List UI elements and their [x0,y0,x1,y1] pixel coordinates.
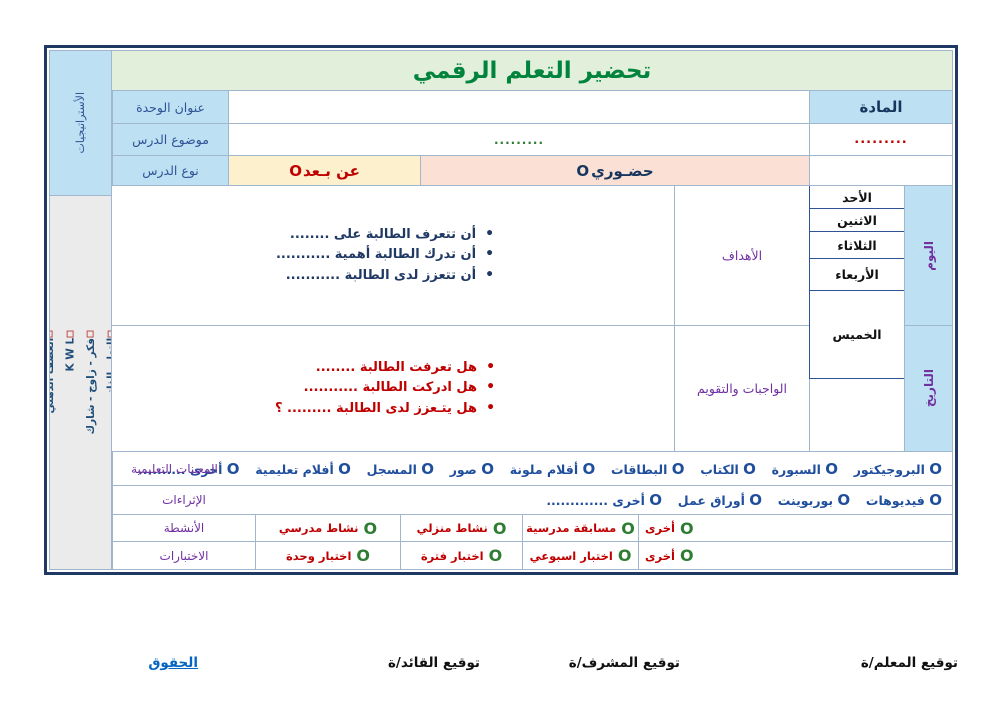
row-activities: O أخرى O مسابقة مدرسية O نشاط منزلي [112,515,952,542]
header-row-unit: المادة عنوان الوحدة [112,91,952,124]
remote-label: عن بـعد [303,162,360,180]
day-side-label: اليوم [904,186,952,326]
lesson-type-remote-option[interactable]: عن بـعد O [228,156,420,186]
resources-options[interactable]: O البروجيكتور O السبورة O الكتاب O ال [236,452,952,486]
option-label[interactable]: أقلام ملونة [510,462,578,477]
title-row: تحضير التعلم الرقمي [112,51,952,91]
lesson-type-label-cell: نوع الدرس [112,156,228,186]
enrichment-option-line: O فيديوهات O بوربوينت O أوراق عمل O أ [546,491,942,509]
option-label: اختبار فترة [421,549,484,563]
strategy-item[interactable]: فكر - زاوج - شارك [81,331,101,435]
checkbox-icon[interactable] [50,331,53,338]
activity-option-other[interactable]: O أخرى [638,515,952,541]
checkbox-icon[interactable] [66,331,73,338]
option-label: اختبار اسبوعي [530,549,613,563]
list-item: هل يتـعزز لدى الطالبة ......... ؟ [275,399,477,419]
date-value-cell[interactable] [809,379,904,452]
row-resources: O البروجيكتور O السبورة O الكتاب O ال [112,452,952,486]
supervisor-signature-label: توقيع المشرف/ة [569,655,680,671]
marker-icon[interactable]: O [649,491,662,509]
marker-icon[interactable]: O [481,460,494,478]
signature-footer: توقيع المعلم/ة توقيع المشرف/ة توقيع القا… [44,655,958,681]
option-label[interactable]: صور [450,462,477,477]
enrichment-options[interactable]: O فيديوهات O بوربوينت O أوراق عمل O أ [255,486,952,515]
lesson-topic-value-cell[interactable]: ......... [228,124,809,156]
enrichment-tail: ............. [546,493,608,508]
marker-icon[interactable]: O [837,491,850,509]
option-label[interactable]: فيديوهات [866,493,925,508]
page-title: تحضير التعلم الرقمي [413,58,651,84]
activity-option-school-contest[interactable]: O مسابقة مدرسية [522,515,638,541]
activity-option-home[interactable]: O نشاط منزلي [400,515,522,541]
option-label[interactable]: البطاقات [611,462,667,477]
marker-icon: O [356,546,370,565]
day-cell-wednesday[interactable]: الأربعاء [809,259,904,291]
marker-icon: O [680,546,694,565]
list-item: أن تتعرف الطالبة على ........ [276,225,476,245]
tests-cells: O أخرى O اختبار اسبوعي O اختبار فترة [255,542,952,569]
option-label[interactable]: أفلام تعليمية [255,462,334,477]
teacher-signature-label: توقيع المعلم/ة [861,655,958,671]
strategies-rotated-text: التعلم التعاوني المصورة خرائط المفاهيم ا… [50,331,112,435]
option-label: نشاط مدرسي [279,521,359,535]
onsite-marker-icon: O [576,162,591,180]
marker-icon[interactable]: O [421,460,434,478]
bottom-block: O البروجيكتور O السبورة O الكتاب O ال [112,452,952,569]
option-label: مسابقة مدرسية [526,521,616,535]
strategies-side-label-text: الأستراتيجيات [74,92,87,154]
resources-option-line: O البروجيكتور O السبورة O الكتاب O ال [138,460,942,478]
remote-marker-icon: O [289,162,303,180]
main-grid: تحضير التعلم الرقمي المادة عنوان الوحدة … [112,51,952,569]
body-block: اليوم التاريخ الأحد الاثنين الثلاثاء الأ… [112,186,952,452]
activities-cells: O أخرى O مسابقة مدرسية O نشاط منزلي [255,515,952,542]
marker-icon[interactable]: O [672,460,685,478]
checkbox-icon[interactable] [87,331,94,338]
option-label[interactable]: المسجل [367,462,417,477]
marker-icon: O [621,519,635,538]
goals-list: أن تتعرف الطالبة على ........ أن تدرك ال… [276,225,510,285]
marker-icon: O [364,519,378,538]
date-side-label: التاريخ [904,326,952,452]
test-option-other[interactable]: O أخرى [638,542,952,569]
strategy-item[interactable]: التعلم الذاتي [101,331,112,435]
day-cell-sunday[interactable]: الأحد [809,186,904,209]
subject-header-cell: المادة [809,91,952,124]
marker-icon[interactable]: O [929,491,942,509]
test-option-unit[interactable]: O اختبار وحدة [255,542,400,569]
strategies-list: التعلم التعاوني المصورة خرائط المفاهيم ا… [50,196,112,569]
marker-icon[interactable]: O [743,460,756,478]
day-cell-tuesday[interactable]: الثلاثاء [809,232,904,259]
activity-option-school[interactable]: O نشاط مدرسي [255,515,400,541]
marker-icon[interactable]: O [749,491,762,509]
day-cell-thursday[interactable]: الخميس [809,291,904,379]
lesson-plan-page: تحضير التعلم الرقمي المادة عنوان الوحدة … [0,0,1000,707]
header-row-topic: ......... ......... موضوع الدرس [112,124,952,156]
day-cell-monday[interactable]: الاثنين [809,209,904,232]
assessment-label: الواجبات والتقويم [674,326,809,452]
option-label: نشاط منزلي [417,521,488,535]
subject-spacer-cell [809,156,952,186]
test-option-weekly[interactable]: O اختبار اسبوعي [522,542,638,569]
strategies-side-label: الأستراتيجيات [50,51,112,196]
option-label: اختبار وحدة [286,549,351,563]
marker-icon[interactable]: O [825,460,838,478]
marker-icon: O [493,519,507,538]
marker-icon[interactable]: O [338,460,351,478]
list-item: هل ادركت الطالبة ........... [275,378,477,398]
days-column: الأحد الاثنين الثلاثاء الأربعاء الخميس [809,186,904,452]
enrichment-label: الإثراءات [112,486,255,515]
list-item: أن تتعزز لدى الطالبة ........... [276,266,476,286]
header-row-lesson-type: حضـوري O عن بـعد O نوع الدرس [112,156,952,186]
row-tests: O أخرى O اختبار اسبوعي O اختبار فترة [112,542,952,569]
option-label[interactable]: بوربوينت [778,493,833,508]
checkbox-icon[interactable] [107,331,112,338]
assessment-list: هل تعرفت الطالبة ........ هل ادركت الطال… [275,358,511,418]
option-label[interactable]: الكتاب [700,462,739,477]
option-label[interactable]: البروجيكتور [854,462,925,477]
option-label[interactable]: أوراق عمل [678,493,745,508]
marker-icon: O [618,546,632,565]
goals-body[interactable]: أن تتعرف الطالبة على ........ أن تدرك ال… [112,186,674,326]
marker-icon: O [680,519,694,538]
marker-icon[interactable]: O [929,460,942,478]
lesson-type-onsite-option[interactable]: حضـوري O [420,156,809,186]
lesson-plan-table: تحضير التعلم الرقمي المادة عنوان الوحدة … [44,45,958,575]
option-label: أخرى [645,521,675,535]
strategies-column: الأستراتيجيات التعلم التعاوني المصورة خر… [50,51,112,569]
marker-icon[interactable]: O [582,460,595,478]
activities-label: الأنشطة [112,515,255,542]
option-label[interactable]: أخرى [612,493,645,508]
subject-value-cell[interactable]: ......... [809,124,952,156]
header-block: المادة عنوان الوحدة ......... ......... … [112,91,952,186]
row-enrichment: O فيديوهات O بوربوينت O أوراق عمل O أ [112,486,952,515]
onsite-label: حضـوري [591,162,654,180]
side-label-strip: اليوم التاريخ [904,186,952,452]
option-label[interactable]: السبورة [772,462,821,477]
list-item: أن تدرك الطالبة أهمية ........... [276,245,476,265]
marker-icon: O [489,546,503,565]
unit-title-value-cell[interactable] [228,91,809,124]
unit-title-label-cell: عنوان الوحدة [112,91,228,124]
subject-value-dots: ......... [854,132,907,147]
date-side-label-text: التاريخ [922,369,936,407]
lesson-topic-label-cell: موضوع الدرس [112,124,228,156]
tests-label: الاختبارات [112,542,255,569]
rights-link[interactable]: الحقوق [148,655,198,671]
lesson-topic-dots: ......... [494,133,544,147]
section-row-goals: الأهداف أن تتعرف الطالبة على ........ أن… [112,186,809,326]
assessment-body[interactable]: هل تعرفت الطالبة ........ هل ادركت الطال… [112,326,674,452]
strategy-item[interactable]: العصف الذهني [50,331,60,435]
strategy-item[interactable]: K W L [60,331,80,435]
leader-signature-label: توقيع القائد/ة [388,655,480,671]
resources-label: المعينات التعليمية [112,452,236,486]
section-row-assessment: الواجبات والتقويم هل تعرفت الطالبة .....… [112,326,809,452]
day-side-label-text: اليوم [922,241,936,271]
option-label: أخرى [645,549,675,563]
sections-column: الأهداف أن تتعرف الطالبة على ........ أن… [112,186,809,452]
list-item: هل تعرفت الطالبة ........ [275,358,477,378]
goals-label: الأهداف [674,186,809,326]
table-inner: تحضير التعلم الرقمي المادة عنوان الوحدة … [49,50,953,570]
test-option-period[interactable]: O اختبار فترة [400,542,522,569]
